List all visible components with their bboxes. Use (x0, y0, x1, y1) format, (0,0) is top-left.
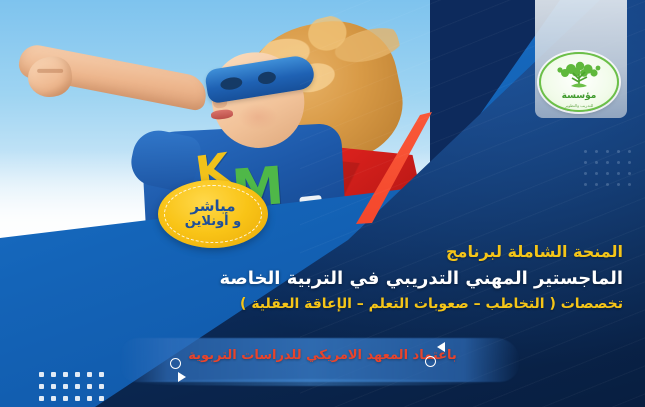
child-cheek (238, 104, 278, 130)
live-badge-line-2: و أونلاين (185, 215, 241, 230)
headline-line-3: تخصصات ( التخاطب – صعوبات التعلم – الإعا… (23, 294, 623, 315)
circle-marker-right (425, 356, 436, 367)
dot-grid-decoration (32, 372, 104, 407)
logo-wordmark: مؤسسة (541, 91, 617, 101)
accreditation-text: باعتماد المعهد الامريكي للدراسات التربوي… (0, 348, 645, 363)
institute-logo[interactable]: مؤسسة للتدريب والتطوير (539, 52, 619, 112)
headline-line-1: المنحة الشاملة لبرنامج (23, 240, 623, 264)
triangle-right-marker (178, 372, 186, 382)
circle-marker-left (170, 358, 181, 369)
live-badge-line-1: مباشر (190, 198, 235, 215)
headline-line-2: الماجستير المهني التدريبي في التربية الخ… (23, 265, 623, 292)
promo-banner: K M (0, 0, 645, 407)
logo-subtitle: للتدريب والتطوير (541, 103, 617, 108)
mask-eyehole-right (257, 71, 277, 86)
triangle-left-marker (437, 342, 445, 352)
headline-block: المنحة الشاملة لبرنامج الماجستير المهني … (23, 240, 623, 315)
dot-grid-top-right (576, 150, 631, 194)
live-online-badge[interactable]: مباشر و أونلاين (158, 180, 268, 248)
mask-eyehole-left (220, 76, 244, 91)
